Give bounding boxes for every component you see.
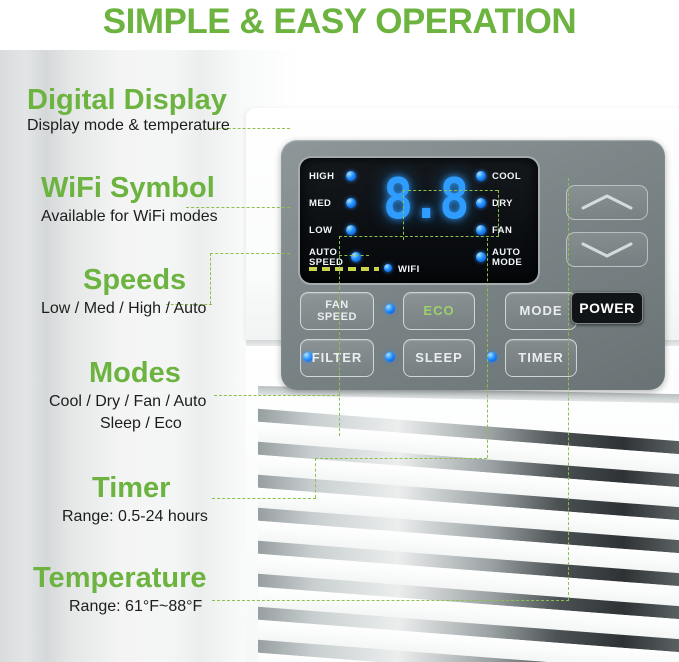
temperature-readout: 8.8 (383, 170, 459, 228)
fan-speed-label-line1: FAN (325, 299, 349, 311)
connector-timer-vert (315, 458, 316, 498)
chevron-up-icon (567, 186, 647, 219)
indicator-led-fan (476, 225, 486, 235)
connector-timer-out (212, 498, 316, 499)
connector-temp-out (212, 600, 569, 601)
connector-speeds-vert (210, 253, 211, 304)
callout-heading-modes: Modes (89, 357, 181, 390)
callout-sub-speeds: Low / Med / High / Auto (41, 300, 206, 318)
eco-led (385, 304, 395, 314)
callout-sub-timer: Range: 0.5-24 hours (62, 508, 208, 526)
wifi-dash-marks (309, 267, 379, 271)
filter-button[interactable]: FILTER (300, 339, 374, 377)
indicator-label-high: HIGH (309, 172, 334, 182)
wifi-label: WIFI (398, 265, 420, 275)
indicator-led-cool (476, 171, 486, 181)
indicator-label-auto-mode-2: MODE (492, 258, 522, 268)
indicator-led-low (346, 225, 356, 235)
callout-heading-digital-display: Digital Display (27, 84, 227, 117)
indicator-label-med: MED (309, 199, 331, 209)
connector-temp-drop (568, 178, 569, 600)
callout-heading-speeds: Speeds (83, 264, 186, 297)
connector-timer-a (315, 458, 487, 459)
fan-speed-label-line2: SPEED (317, 311, 357, 323)
page-title: SIMPLE & EASY OPERATION (0, 2, 679, 42)
timer-button[interactable]: TIMER (505, 339, 577, 377)
callout-sub-digital-display: Display mode & temperature (27, 117, 230, 135)
digital-display: HIGH MED LOW AUTO SPEED 8.8 WIFI COOL (298, 156, 540, 285)
timer-led (487, 352, 497, 362)
eco-button[interactable]: ECO (403, 292, 475, 330)
connector-modes-top (403, 190, 498, 191)
mode-button[interactable]: MODE (505, 292, 577, 330)
callout-sub-temperature: Range: 61°F~88°F (69, 598, 202, 616)
indicator-led-high (346, 171, 356, 181)
connector-modes-vert-b (498, 190, 499, 236)
connector-modes-out (214, 395, 340, 396)
power-button[interactable]: POWER (571, 292, 643, 324)
connector-modes-mid (339, 236, 499, 237)
temp-down-button[interactable] (566, 232, 648, 267)
indicator-led-auto-speed (351, 252, 361, 262)
callout-sub-wifi-symbol: Available for WiFi modes (41, 208, 218, 226)
connector-timer-drop (487, 238, 488, 458)
callout-heading-temperature: Temperature (33, 562, 207, 595)
connector-speeds-top (210, 253, 290, 254)
indicator-led-auto-mode (476, 252, 486, 262)
indicator-label-low: LOW (309, 226, 332, 236)
fan-speed-button[interactable]: FAN SPEED (300, 292, 374, 330)
wifi-led (384, 264, 392, 272)
callout-heading-wifi-symbol: WiFi Symbol (41, 172, 215, 205)
callout-sub2-modes: Sleep / Eco (100, 415, 182, 433)
callout-heading-timer: Timer (92, 472, 170, 505)
temp-up-button[interactable] (566, 185, 648, 220)
connector-modes-eco (339, 255, 369, 256)
sleep-button[interactable]: SLEEP (403, 339, 475, 377)
indicator-led-med (346, 198, 356, 208)
indicator-label-dry: DRY (492, 199, 513, 209)
infographic-canvas: SIMPLE & EASY OPERATION HIGH MED LOW AUT… (0, 0, 679, 662)
sleep-led (385, 352, 395, 362)
indicator-led-dry (476, 198, 486, 208)
air-vent-grille (258, 408, 679, 662)
connector-modes-drop (339, 236, 340, 436)
connector-modes-vert-a (403, 190, 404, 240)
indicator-label-cool: COOL (492, 172, 521, 182)
indicator-label-fan: FAN (492, 226, 512, 236)
chevron-down-icon (567, 233, 647, 266)
callout-sub-modes: Cool / Dry / Fan / Auto (49, 393, 206, 411)
